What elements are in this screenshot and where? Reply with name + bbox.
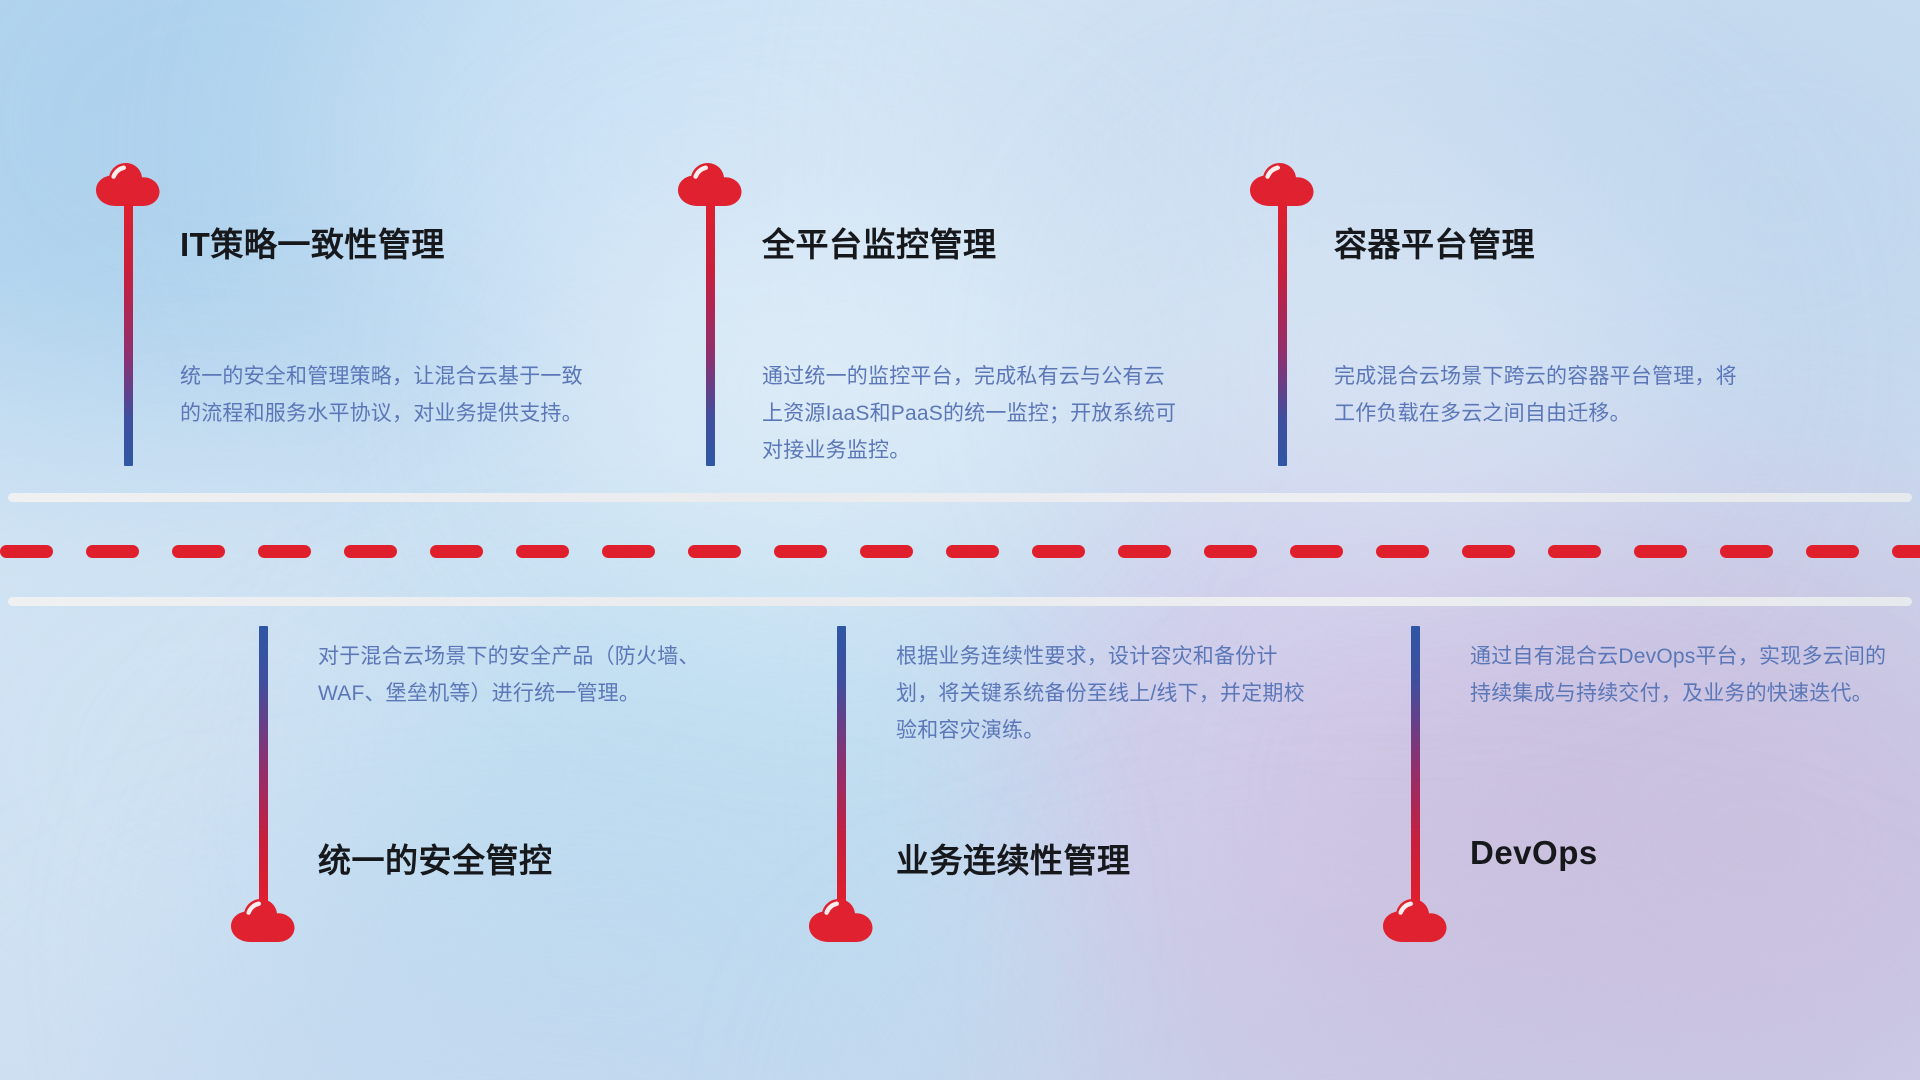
divider-dash — [774, 545, 827, 558]
divider-dash — [688, 545, 741, 558]
divider-dash — [344, 545, 397, 558]
accent-bar — [1411, 626, 1420, 903]
cloud-pin-icon — [1249, 160, 1315, 208]
card-description: 根据业务连续性要求，设计容灾和备份计划，将关键系统备份至线上/线下，并定期校验和… — [896, 638, 1316, 749]
accent-bar — [837, 626, 846, 903]
card-title: 业务连续性管理 — [896, 834, 1131, 882]
accent-bar — [259, 626, 268, 903]
accent-bar — [706, 203, 715, 466]
cloud-pin-icon — [677, 160, 743, 208]
card-title: DevOps — [1470, 834, 1598, 872]
card-description: 通过自有混合云DevOps平台，实现多云间的持续集成与持续交付，及业务的快速迭代… — [1470, 638, 1890, 712]
divider-dash — [860, 545, 913, 558]
card-description: 完成混合云场景下跨云的容器平台管理，将工作负载在多云之间自由迁移。 — [1334, 358, 1754, 432]
cloud-pin-icon — [95, 160, 161, 208]
divider-dash — [430, 545, 483, 558]
card-title: IT策略一致性管理 — [180, 218, 445, 266]
accent-bar — [1278, 203, 1287, 466]
infographic-canvas: IT策略一致性管理 统一的安全和管理策略，让混合云基于一致的流程和服务水平协议，… — [0, 0, 1920, 1080]
divider-dash — [602, 545, 655, 558]
card-title: 容器平台管理 — [1334, 218, 1535, 266]
card-title: 统一的安全管控 — [318, 834, 553, 882]
dashed-center-line — [0, 545, 1920, 558]
cloud-pin-icon — [808, 896, 874, 944]
divider-line-top — [8, 493, 1912, 502]
divider-dash — [1634, 545, 1687, 558]
divider-dash — [1290, 545, 1343, 558]
card-description: 统一的安全和管理策略，让混合云基于一致的流程和服务水平协议，对业务提供支持。 — [180, 358, 600, 432]
divider-dash — [1032, 545, 1085, 558]
divider-line-bottom — [8, 597, 1912, 606]
accent-bar — [124, 203, 133, 466]
divider-dash — [516, 545, 569, 558]
divider-dash — [1376, 545, 1429, 558]
divider-dash — [946, 545, 999, 558]
divider-dash — [1204, 545, 1257, 558]
card-description: 对于混合云场景下的安全产品（防火墙、WAF、堡垒机等）进行统一管理。 — [318, 638, 738, 712]
card-description: 通过统一的监控平台，完成私有云与公有云上资源IaaS和PaaS的统一监控；开放系… — [762, 358, 1182, 469]
cloud-pin-icon — [230, 896, 296, 944]
divider-dash — [1462, 545, 1515, 558]
divider-dash — [1548, 545, 1601, 558]
divider-dash — [1118, 545, 1171, 558]
card-title: 全平台监控管理 — [762, 218, 997, 266]
divider-dash — [86, 545, 139, 558]
divider-dash — [0, 545, 53, 558]
divider-dash — [258, 545, 311, 558]
divider-dash — [1806, 545, 1859, 558]
cloud-pin-icon — [1382, 896, 1448, 944]
divider-dash — [1720, 545, 1773, 558]
divider-dash — [172, 545, 225, 558]
divider-dash — [1892, 545, 1920, 558]
